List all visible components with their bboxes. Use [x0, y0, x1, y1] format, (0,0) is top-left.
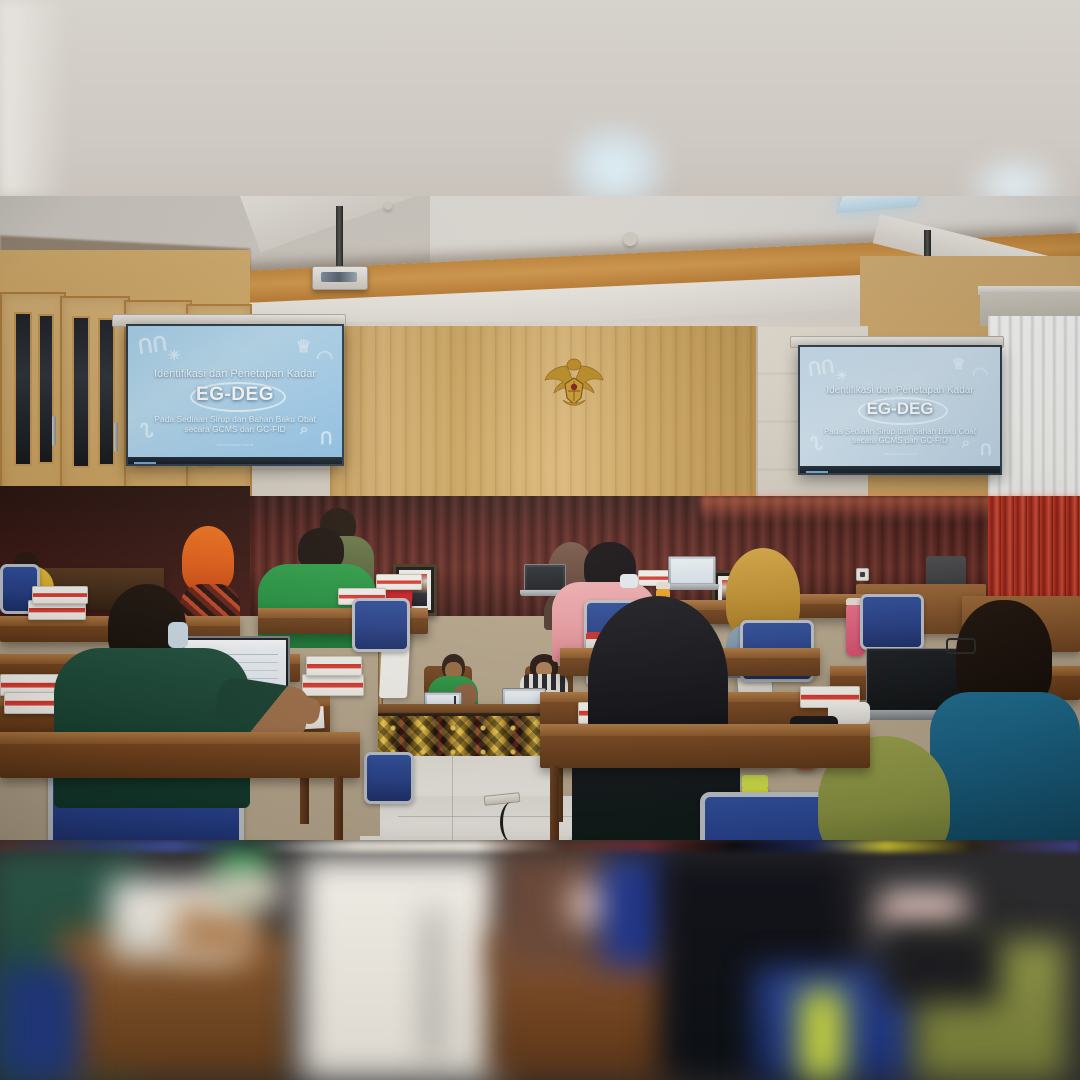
doodle-squiggle: ᑎᑎ [807, 357, 836, 378]
garuda-pancasila-emblem [543, 354, 605, 410]
bottle-cap [742, 775, 768, 787]
slide-footer: www.farmasi.ui.ac.id [128, 442, 342, 447]
hall-door-1[interactable] [0, 292, 66, 504]
blurred-bottle-yellow [800, 990, 844, 1080]
screen-pull-tab[interactable] [806, 471, 828, 475]
screen-bottom-bar [128, 457, 342, 464]
slide-footer: www.farmasi.ui.ac.id [800, 452, 1000, 456]
smoke-detector [623, 232, 637, 246]
blurred-aisle-floor [300, 856, 500, 1080]
chair-back [860, 594, 924, 650]
blurred-cable [430, 910, 436, 1060]
projector-mount-rod-left [336, 206, 343, 268]
blurred-ceiling-light-right [960, 150, 1070, 196]
door-glass-panel [72, 316, 90, 468]
presentation-slide: ᑎᑎ ♕ ◠ ☀ ᔐ ⌕ ᑎ Identifikasi dan Penetapa… [800, 347, 1000, 473]
desk-top [540, 724, 870, 736]
doodle-sun: ☀ [168, 348, 181, 362]
attendee-face-mask [168, 622, 188, 648]
attendee-torso [54, 648, 250, 808]
doodle-crown: ♕ [952, 357, 965, 372]
chair-back [364, 752, 414, 804]
doodle-crown: ♕ [296, 338, 311, 355]
door-handle[interactable] [114, 422, 118, 452]
audience-desk-foreground-right [540, 724, 870, 768]
blurred-laptop-right [880, 924, 1000, 1004]
snack-box [306, 656, 362, 676]
screen-pull-tab[interactable] [134, 462, 156, 466]
eyeglasses [946, 638, 976, 654]
doodle-loop: ◠ [972, 365, 989, 384]
desk-top [0, 732, 360, 744]
doodle-squiggle: ᑎᑎ [137, 334, 169, 358]
ceiling-projector-left [312, 266, 368, 290]
photo-canvas: ᑎᑎ ♕ ◠ ☀ ᔐ ⌕ ᑎ Identifikasi dan Penetapa… [0, 0, 1080, 1080]
blurred-hand-left [176, 906, 256, 960]
hall-door-2[interactable] [60, 296, 130, 504]
screen-bottom-bar [800, 466, 1000, 473]
slide-title: EG-DEG [128, 384, 342, 406]
slide-line-4: secara GCMS dan GC-FID [128, 424, 342, 434]
door-glass-panel [98, 318, 115, 466]
blurred-top-band [0, 0, 1080, 196]
slide-line-4: secara GCMS dan GC-FID [800, 436, 1000, 445]
door-glass-panel [14, 312, 32, 466]
ceiling-fixture [384, 202, 392, 210]
slide-title: EG-DEG [800, 399, 1000, 419]
audience-desk-foreground-left [0, 732, 360, 778]
right-projection-screen: ᑎᑎ ♕ ◠ ☀ ᔐ ⌕ ᑎ Identifikasi dan Penetapa… [798, 345, 1002, 475]
blurred-ceiling-light [560, 120, 670, 196]
doodle-sun: ☀ [836, 369, 848, 382]
blurred-chair-left [0, 966, 80, 1080]
presentation-slide: ᑎᑎ ♕ ◠ ☀ ᔐ ⌕ ᑎ Identifikasi dan Penetapa… [128, 326, 342, 464]
chair-back [700, 792, 828, 842]
extension-cable [500, 802, 523, 842]
laptop-display [671, 559, 713, 583]
attendee-torso [930, 692, 1080, 842]
laptop-display [527, 567, 563, 589]
laptop-base [663, 584, 719, 590]
wall-power-outlet[interactable] [856, 568, 869, 581]
left-projection-screen: ᑎᑎ ♕ ◠ ☀ ᔐ ⌕ ᑎ Identifikasi dan Penetapa… [126, 324, 344, 466]
blurred-bottom-band [0, 840, 1080, 1080]
doodle-squiggle-2: ᑎ [980, 443, 992, 459]
door-handle[interactable] [52, 416, 56, 446]
slide-line-3: Pada Sediaan Sirup dan Bahan Baku Obat [128, 414, 342, 424]
slide-line-1: Identifikasi dan Penetapan Kadar [128, 368, 342, 380]
laptop-screen [524, 564, 566, 592]
desk-leg [550, 766, 559, 842]
slide-line-3: Pada Sediaan Sirup dan Bahan Baku Obat [800, 427, 1000, 436]
main-photograph: ᑎᑎ ♕ ◠ ☀ ᔐ ⌕ ᑎ Identifikasi dan Penetapa… [0, 196, 1080, 842]
desk-leg [334, 776, 343, 842]
blur-edge-fade [0, 0, 70, 196]
bottle-cap [656, 582, 670, 589]
laptop-screen [668, 556, 716, 586]
doodle-loop: ◠ [316, 348, 333, 368]
snack-box [32, 586, 88, 604]
floor-tile-line [452, 756, 453, 842]
chair-back [352, 598, 410, 652]
window-lower-blinds [988, 496, 1080, 606]
slide-line-1: Identifikasi dan Penetapan Kadar [800, 385, 1000, 396]
attendee-hijab [182, 526, 234, 592]
snack-box [302, 674, 364, 696]
face-mask [620, 574, 638, 588]
blurred-snack-box [214, 874, 282, 906]
